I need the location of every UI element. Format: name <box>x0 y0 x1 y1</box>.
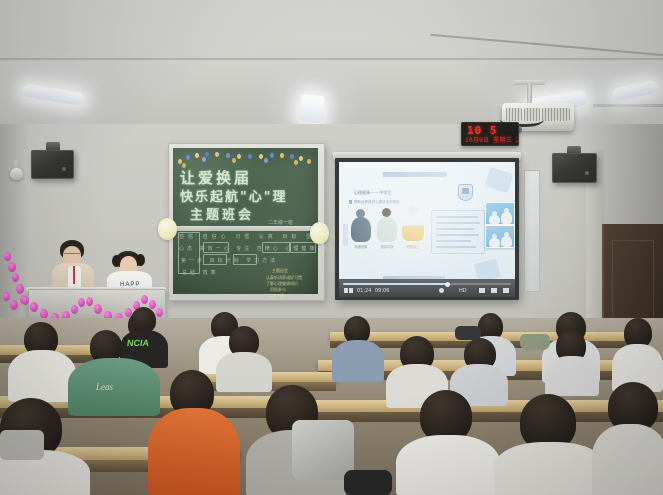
tinsel-decor <box>10 300 18 310</box>
student-body <box>494 442 606 495</box>
chalk-box <box>203 242 229 253</box>
tinsel-swag <box>156 308 163 317</box>
slide-subtitle: 帮助培养良好心理状态的策略 <box>354 200 400 205</box>
slide-decor-bar <box>343 224 348 246</box>
slide-text-panel <box>431 210 485 254</box>
pause-icon[interactable] <box>349 288 353 293</box>
student-body <box>592 424 663 495</box>
tinsel-swag <box>86 297 93 306</box>
chalk-box <box>178 232 200 274</box>
blackboard-headline-3: 主题班会 <box>190 204 254 223</box>
tinsel-swag <box>149 300 156 309</box>
slide-figure-head <box>408 206 417 215</box>
fullscreen-icon[interactable] <box>503 288 509 293</box>
slide-figure-2 <box>377 217 397 242</box>
ceiling-seam <box>0 58 663 60</box>
slide-figure-1 <box>351 217 371 242</box>
tinsel-swag <box>94 304 102 314</box>
video-duration: 09:06 <box>375 288 389 294</box>
balloon-left <box>158 218 177 240</box>
student-body <box>8 350 76 402</box>
slide-decor-shape <box>484 167 513 193</box>
security-camera <box>10 168 23 180</box>
chalk-box <box>262 242 290 253</box>
tinsel-swag <box>141 295 148 304</box>
draped-jacket <box>292 420 354 480</box>
tinsel-swag <box>30 302 38 312</box>
volume-icon[interactable] <box>439 288 444 293</box>
backpack <box>455 326 481 340</box>
video-progress-fill <box>343 283 447 285</box>
projection-screen-canvas: 心理健康—— 中学生 帮助培养良好心理状态的策略 情绪低落 保持平静 积极向上 <box>339 162 515 296</box>
classroom-scene: 10 5 10月9日 星期三 26°C 让爱换届 快乐起航"心"理 主 <box>0 0 663 495</box>
presenter-right-hairbun <box>136 254 145 266</box>
wall-speaker-left <box>31 150 74 179</box>
slide-figure-label-3: 积极向上 <box>402 244 424 249</box>
slide-title: 心理健康—— 中学生 <box>354 190 391 196</box>
tinsel-decor <box>4 252 11 261</box>
projector-mount-pole <box>527 83 532 105</box>
tinsel-decor <box>16 284 24 294</box>
ceiling-light <box>299 94 326 123</box>
bag <box>520 334 550 350</box>
student-body <box>545 356 599 396</box>
video-progress-track[interactable] <box>343 283 511 285</box>
slide-figure-head <box>382 208 391 217</box>
tinsel-decor <box>8 262 16 272</box>
slide-figure-label-2: 保持平静 <box>377 244 397 249</box>
slide-figure-label-1: 情绪低落 <box>351 244 371 249</box>
chalk-box <box>290 242 316 253</box>
slide-top-accent <box>383 172 447 177</box>
blackboard-corner-note: 主题班会 <box>272 268 288 274</box>
school-crest-icon <box>458 184 473 201</box>
draped-jacket <box>0 430 44 460</box>
blackboard-headline-2: 快乐起航"心"理 <box>180 186 288 205</box>
tinsel-swag <box>71 305 78 314</box>
subtitles-icon[interactable] <box>491 288 497 293</box>
pause-icon[interactable] <box>344 288 348 293</box>
blackboard-headline-1: 让爱换届 <box>180 167 252 188</box>
student-body <box>332 340 384 382</box>
blackboard-signature: 二年级一班 <box>268 219 293 226</box>
tinsel-swag <box>22 296 29 305</box>
backpack <box>344 470 392 495</box>
glasses-icon <box>64 253 80 258</box>
blackboard-rail <box>170 226 321 231</box>
slide-bullet <box>349 200 352 204</box>
slide-thumbnail <box>485 202 515 225</box>
blackboard-corner-note: 二年一班 <box>268 293 284 299</box>
video-elapsed-time: 01:24 <box>357 288 371 294</box>
video-progress-knob[interactable] <box>445 282 450 287</box>
wall-panel-strip <box>524 170 540 292</box>
ceiling-conduit-2 <box>593 104 663 107</box>
lanyard-icon <box>73 266 75 284</box>
balloon-right <box>310 222 329 244</box>
student-body-orange <box>148 408 240 495</box>
tinsel-decor <box>3 292 10 301</box>
video-quality-badge[interactable]: HD <box>459 288 467 294</box>
student-tee-print: NCIA <box>126 338 163 348</box>
settings-icon[interactable] <box>479 288 485 293</box>
slide-thumbnail <box>485 225 515 248</box>
student-body <box>216 352 272 392</box>
video-player-controls[interactable]: 01:24 09:06 HD <box>339 279 515 297</box>
chalk-box <box>233 254 257 265</box>
slide-figure-3 <box>402 215 424 241</box>
wall-speaker-right <box>552 153 597 183</box>
led-clock-display: 10 5 10月9日 星期三 26°C <box>461 122 519 146</box>
tinsel-decor <box>12 273 19 282</box>
clock-subtext: 10月9日 星期三 26°C <box>465 135 519 144</box>
tinsel-swag <box>78 298 85 307</box>
student-green-tee-print: Leas <box>96 382 144 392</box>
student-body <box>396 435 500 495</box>
chalk-box <box>203 254 227 265</box>
